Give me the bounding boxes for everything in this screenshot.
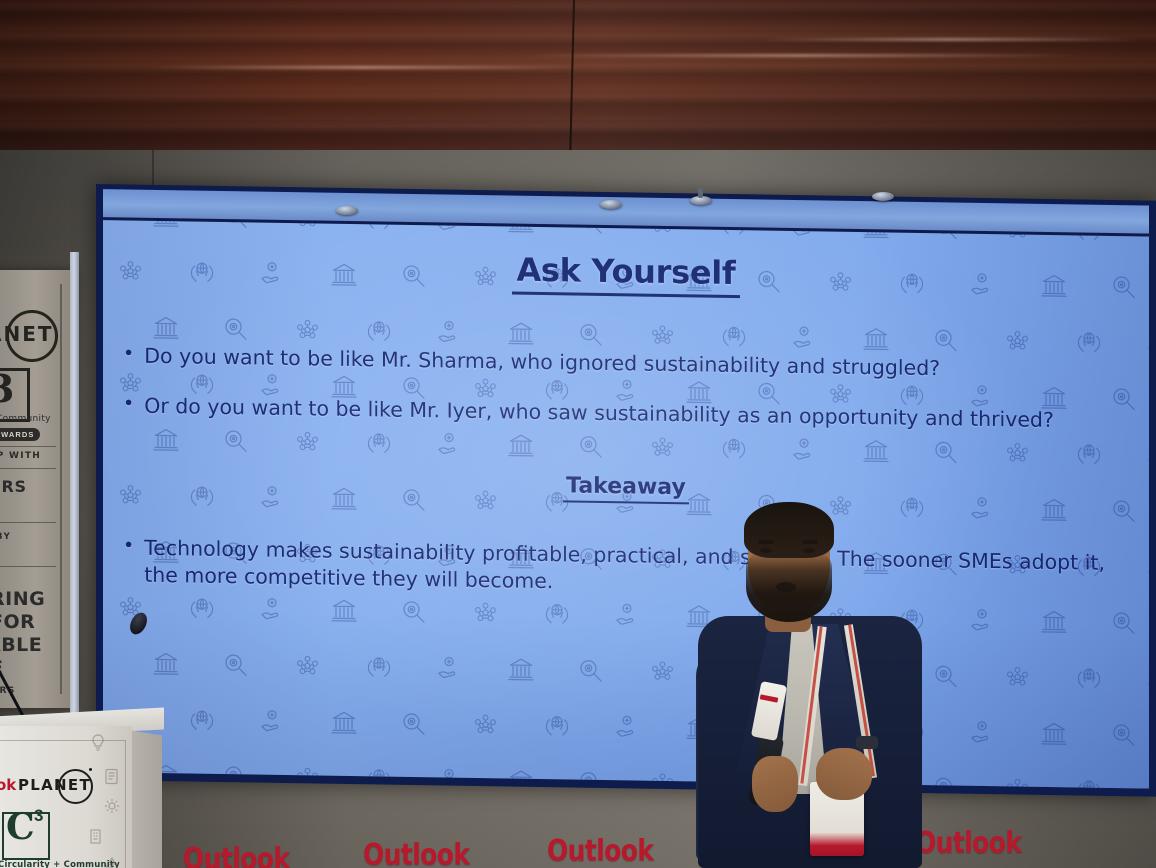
outlook-logo: Outlook bbox=[183, 842, 289, 868]
banner-headline-1: RING bbox=[0, 588, 45, 610]
banner-award-code: 3 bbox=[0, 366, 14, 411]
bullet-2-text: Or do you want to be like Mr. Iyer, who … bbox=[144, 393, 1054, 434]
screen-mount bbox=[336, 206, 358, 215]
banner-headline-2: FOR bbox=[0, 611, 35, 633]
bullet-1-text: Do you want to be like Mr. Sharma, who i… bbox=[144, 343, 940, 382]
banner-divider bbox=[0, 566, 56, 567]
registered-mark-dot-icon bbox=[89, 768, 92, 771]
section-heading-text: Takeaway bbox=[563, 473, 689, 504]
slide-content: Ask Yourself • Do you want to be like Mr… bbox=[103, 220, 1149, 788]
banner-divider bbox=[0, 522, 56, 523]
photo-stage: Outlook Outlook Outlook Outlook Outlook … bbox=[0, 0, 1156, 868]
ceiling-wood-panels bbox=[0, 0, 1156, 175]
podium-award-letter: C bbox=[6, 806, 35, 848]
outlook-logo: Outlook bbox=[547, 834, 653, 868]
podium-tagline: Circularity + Community bbox=[0, 860, 120, 868]
speaker-beard bbox=[746, 552, 832, 622]
slide-bullet-2: • Or do you want to be like Mr. Iyer, wh… bbox=[123, 392, 1123, 434]
projection-screen: Ask Yourself • Do you want to be like Mr… bbox=[96, 184, 1156, 797]
banner-brand-mark: ANET bbox=[0, 322, 54, 346]
outlook-logo: Outlook bbox=[363, 838, 469, 868]
speaker-hand-holding-mic bbox=[752, 756, 798, 812]
speaker-wristwatch bbox=[856, 736, 878, 749]
podium-brand-prefix: ok bbox=[0, 776, 16, 794]
slide-takeaway: • Technology makes sustainability profit… bbox=[123, 534, 1133, 603]
bullet-glyph: • bbox=[123, 342, 134, 366]
speaker-eyebrow-left bbox=[758, 540, 774, 544]
podium-award-number: 3 bbox=[34, 806, 43, 826]
ceiling-highlight bbox=[520, 54, 1080, 57]
slide-title-text: Ask Yourself bbox=[512, 251, 739, 299]
takeaway-line-2: the more competitive they will become. bbox=[144, 562, 553, 592]
ceiling-highlight bbox=[150, 66, 580, 69]
speaker-person bbox=[690, 498, 930, 868]
podium-side-panel bbox=[128, 730, 162, 868]
banner-tagline: Community bbox=[0, 414, 51, 424]
bullet-glyph: • bbox=[123, 534, 134, 558]
recycle-icon bbox=[104, 856, 120, 868]
lightbulb-icon bbox=[90, 734, 106, 757]
speaker-hair bbox=[744, 502, 834, 558]
banner-partnership-label: IP WITH bbox=[0, 451, 41, 461]
speaker-eyebrow-right bbox=[802, 540, 818, 544]
banner-partner-name: ERS bbox=[0, 477, 27, 496]
banner-headline-3: ABLE bbox=[0, 634, 42, 656]
document-icon bbox=[104, 768, 119, 790]
takeaway-block: Technology makes sustainability profitab… bbox=[144, 535, 1105, 603]
slide-bullet-1: • Do you want to be like Mr. Sharma, who… bbox=[123, 342, 1123, 384]
banner-metal-edge bbox=[70, 252, 79, 722]
slide-section-heading: Takeaway bbox=[103, 466, 1149, 507]
slide-surface: Ask Yourself • Do you want to be like Mr… bbox=[103, 220, 1149, 788]
screen-mount bbox=[600, 200, 622, 209]
gear-icon bbox=[104, 798, 120, 819]
banner-powered-by-label: BY bbox=[0, 532, 11, 542]
speaker-gesturing-hand bbox=[816, 748, 872, 800]
banner-divider bbox=[0, 446, 56, 447]
screen-mount bbox=[872, 192, 894, 201]
planet-logo-ring-icon bbox=[58, 769, 93, 804]
ceiling-highlight bbox=[760, 38, 1140, 41]
building-icon bbox=[88, 828, 103, 850]
outlook-logo: Outlook bbox=[915, 826, 1021, 860]
banner-divider bbox=[0, 468, 56, 469]
banner-awards-pill: AWARDS bbox=[0, 428, 40, 441]
bullet-glyph: • bbox=[123, 392, 134, 416]
slide-title: Ask Yourself bbox=[103, 244, 1149, 298]
screen-mount-stem bbox=[698, 188, 703, 198]
